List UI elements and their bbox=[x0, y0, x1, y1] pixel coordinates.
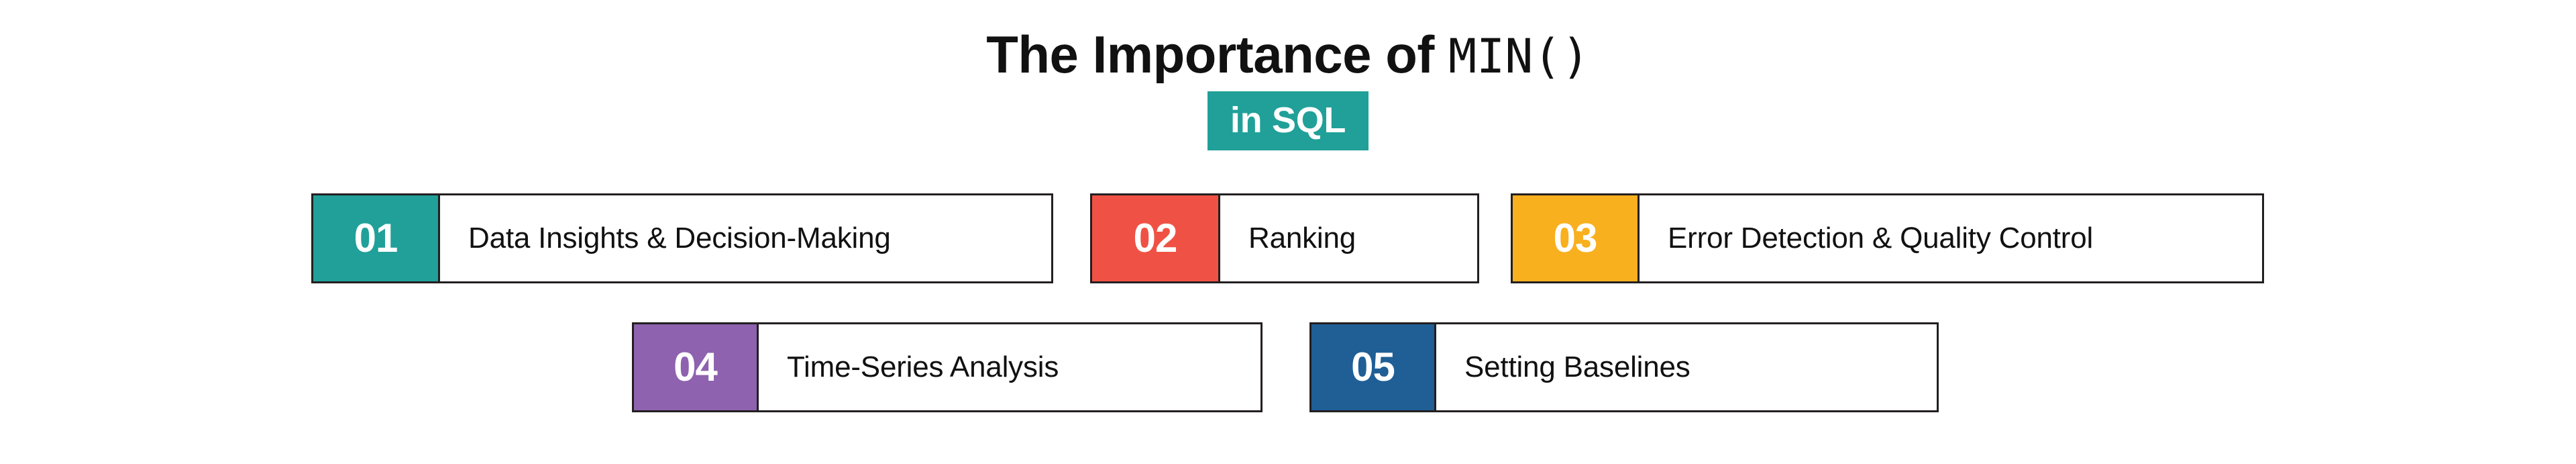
card-label: Error Detection & Quality Control bbox=[1668, 222, 2093, 256]
page-title-function: MIN() bbox=[1448, 29, 1590, 84]
card-body: Ranking bbox=[1220, 195, 1477, 281]
list-item[interactable]: 01 Data Insights & Decision-Making bbox=[311, 193, 1053, 283]
card-number-badge: 01 bbox=[313, 195, 440, 281]
card-number-badge: 05 bbox=[1311, 324, 1436, 410]
card-body: Error Detection & Quality Control bbox=[1640, 195, 2262, 281]
card-body: Time-Series Analysis bbox=[759, 324, 1260, 410]
page-title: The Importance of MIN() bbox=[0, 28, 2576, 81]
list-item[interactable]: 04 Time-Series Analysis bbox=[632, 322, 1263, 412]
list-item[interactable]: 05 Setting Baselines bbox=[1309, 322, 1939, 412]
title-block: The Importance of MIN() in SQL bbox=[0, 28, 2576, 150]
card-label: Data Insights & Decision-Making bbox=[468, 222, 891, 256]
card-body: Data Insights & Decision-Making bbox=[440, 195, 1051, 281]
card-number-label: 05 bbox=[1351, 347, 1395, 387]
card-label: Setting Baselines bbox=[1464, 351, 1690, 385]
card-number-badge: 04 bbox=[634, 324, 759, 410]
card-label: Ranking bbox=[1248, 222, 1356, 256]
card-number-label: 03 bbox=[1554, 218, 1597, 259]
card-number-badge: 02 bbox=[1092, 195, 1220, 281]
card-number-label: 01 bbox=[354, 218, 398, 259]
card-label: Time-Series Analysis bbox=[787, 351, 1059, 385]
card-body: Setting Baselines bbox=[1436, 324, 1937, 410]
list-item[interactable]: 03 Error Detection & Quality Control bbox=[1511, 193, 2264, 283]
page-title-lead: The Importance of bbox=[986, 25, 1448, 84]
card-number-label: 04 bbox=[674, 347, 717, 387]
card-number-label: 02 bbox=[1134, 218, 1177, 259]
infographic-canvas: The Importance of MIN() in SQL 01 Data I… bbox=[0, 0, 2576, 464]
list-item[interactable]: 02 Ranking bbox=[1090, 193, 1479, 283]
subtitle-badge: in SQL bbox=[1207, 91, 1368, 150]
subtitle-wrap: in SQL bbox=[0, 91, 2576, 150]
card-number-badge: 03 bbox=[1513, 195, 1640, 281]
